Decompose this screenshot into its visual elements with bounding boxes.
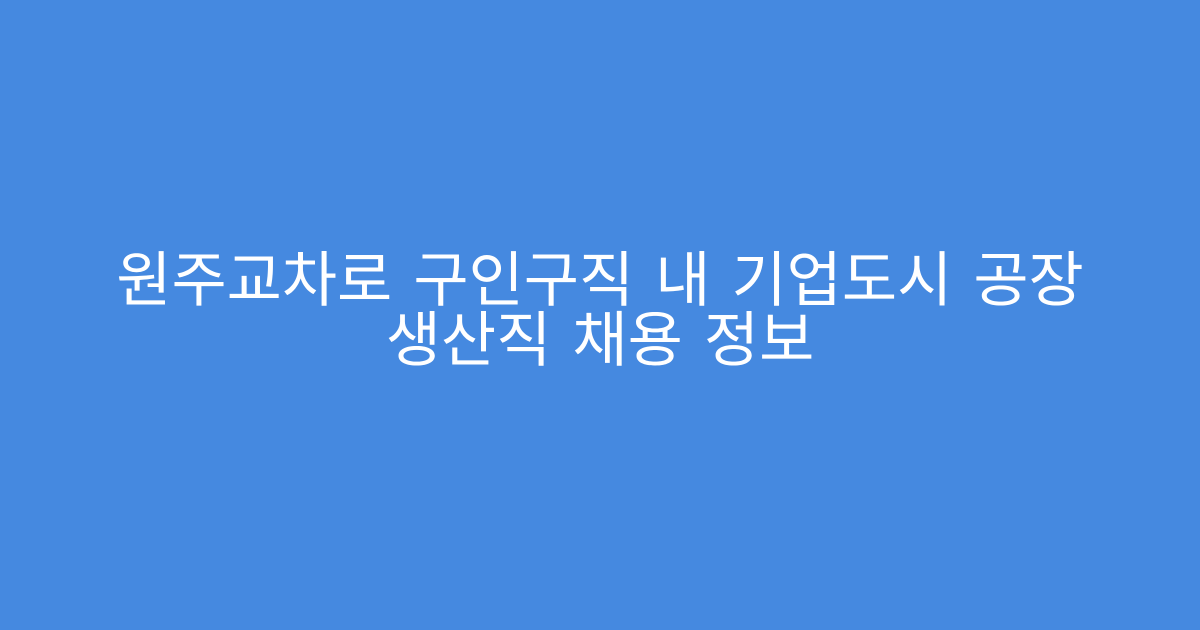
banner-title-block: 원주교차로 구인구직 내 기업도시 공장 생산직 채용 정보 [80, 251, 1120, 371]
banner-canvas: 원주교차로 구인구직 내 기업도시 공장 생산직 채용 정보 [0, 0, 1200, 630]
page-title: 원주교차로 구인구직 내 기업도시 공장 생산직 채용 정보 [80, 251, 1120, 371]
